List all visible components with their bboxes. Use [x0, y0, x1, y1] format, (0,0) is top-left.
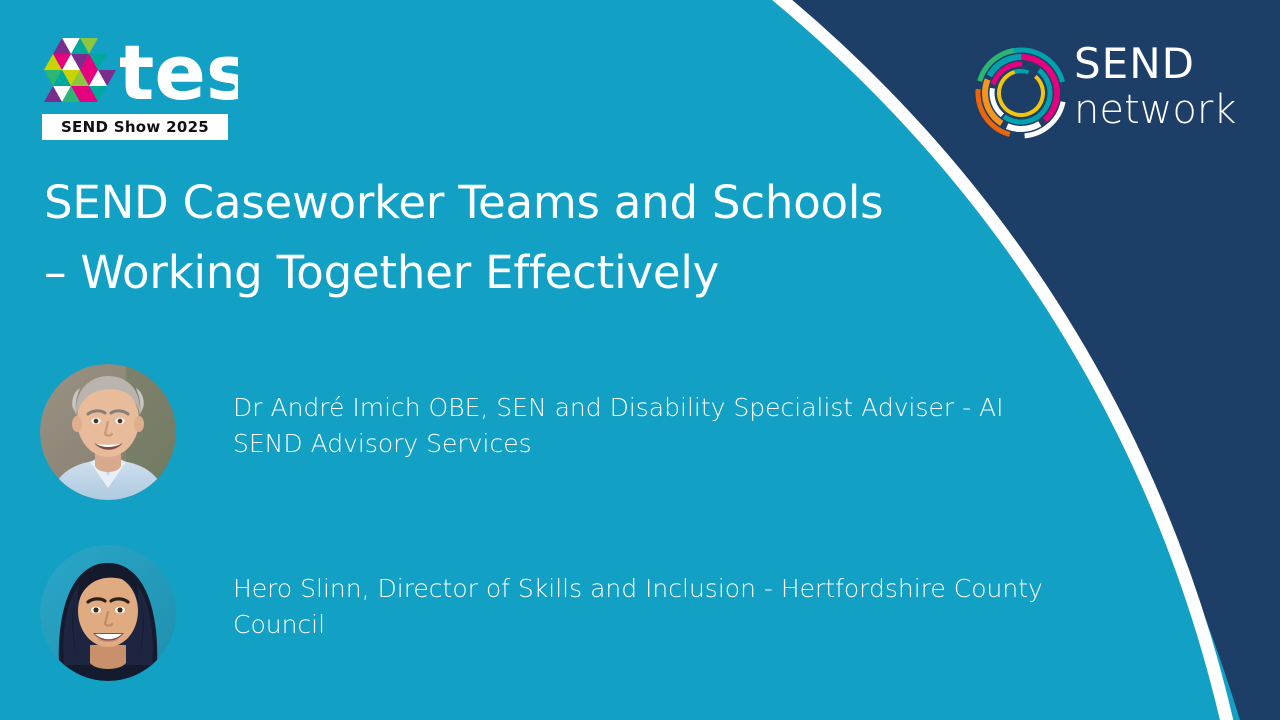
send-show-badge: SEND Show 2025: [42, 114, 228, 140]
speaker-1-avatar: [40, 364, 176, 500]
send-network-ring-icon: [972, 44, 1070, 142]
slide-title: SEND Caseworker Teams and Schools – Work…: [44, 168, 984, 308]
speaker-2-avatar: [40, 545, 176, 681]
tes-wordmark: tes: [120, 33, 238, 115]
slide-title-line-2: – Working Together Effectively: [44, 238, 984, 308]
send-network-wordmark: SEND network: [1074, 42, 1224, 142]
send-show-badge-label: SEND Show 2025: [61, 118, 209, 136]
tes-logo: tes SEND Show 2025: [42, 36, 234, 140]
speaker-entry-2: Hero Slinn, Director of Skills and Inclu…: [40, 545, 1060, 681]
avatar-photo-andre-imich: [40, 364, 176, 500]
slide-title-line-1: SEND Caseworker Teams and Schools: [44, 168, 984, 238]
send-network-line1: SEND: [1074, 42, 1224, 86]
presentation-slide: tes SEND Show 2025: [0, 0, 1280, 720]
speaker-2-name-role: Hero Slinn, Director of Skills and Inclu…: [233, 571, 1048, 643]
send-network-logo: SEND network: [972, 38, 1224, 143]
speaker-entry-1: Dr André Imich OBE, SEN and Disability S…: [40, 364, 1060, 500]
tes-mosaic-icon: [42, 36, 118, 112]
tes-wordmark-text: tes: [120, 33, 238, 115]
speaker-1-name-role: Dr André Imich OBE, SEN and Disability S…: [233, 390, 1048, 462]
send-network-line2: network: [1074, 88, 1224, 132]
avatar-photo-hero-slinn: [40, 545, 176, 681]
